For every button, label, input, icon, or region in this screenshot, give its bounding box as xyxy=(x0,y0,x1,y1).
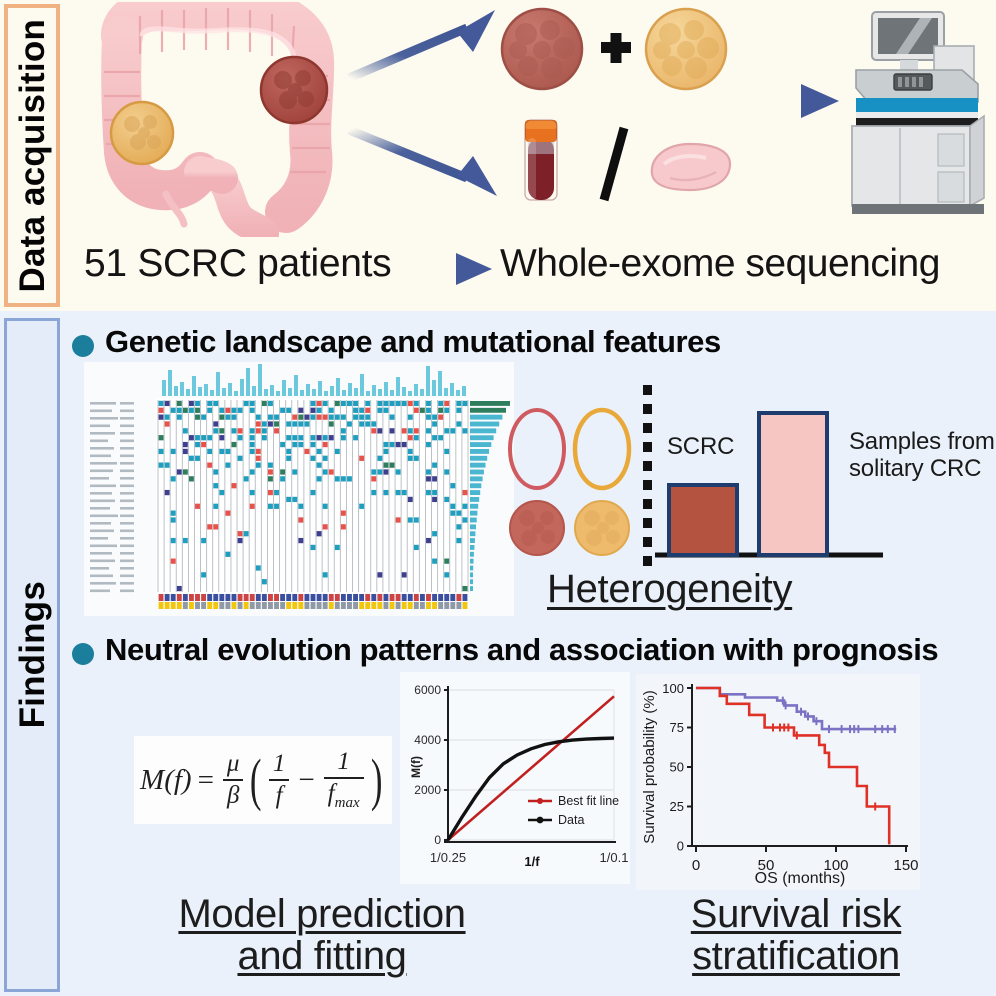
oncoplot-gene-frequency-bar xyxy=(470,483,481,488)
oncoplot-annotation-cell xyxy=(456,594,461,601)
oncoplot-cell xyxy=(347,421,352,426)
oncoplot-cell xyxy=(365,421,370,426)
oncoplot-cell xyxy=(390,401,395,406)
oncoplot-cell xyxy=(317,435,322,440)
oncoplot-cell xyxy=(426,538,431,543)
oncoplot-cell xyxy=(408,428,413,433)
oncoplot-cell xyxy=(341,401,346,406)
oncoplot-annotation-cell xyxy=(420,602,425,609)
ytick-2000: 2000 xyxy=(414,783,441,797)
bar-label-scrc: SCRC xyxy=(667,433,734,461)
oncoplot-cell xyxy=(201,538,206,543)
oncoplot-cell xyxy=(159,463,164,468)
oncoplot-cell xyxy=(377,572,382,577)
oncoplot-annotation-cell xyxy=(177,602,182,609)
finding-bullet-2-text: Neutral evolution patterns and associati… xyxy=(105,634,938,666)
oncoplot-cell xyxy=(414,408,419,413)
oncoplot-cell xyxy=(323,401,328,406)
plus-sign xyxy=(601,33,631,63)
oncoplot-cell xyxy=(426,469,431,474)
oncoplot-cell xyxy=(304,449,309,454)
oncoplot-gene-frequency-bar xyxy=(470,442,491,447)
oncoplot-annotation-cell xyxy=(201,602,206,609)
oncoplot-cell xyxy=(268,421,273,426)
oncoplot-cell xyxy=(262,421,267,426)
oncoplot-cell xyxy=(195,504,200,509)
ytick-4000: 4000 xyxy=(414,733,441,747)
oncoplot-gene-frequency-bar xyxy=(470,449,489,454)
oncoplot-cell xyxy=(311,408,316,413)
oncoplot-cell xyxy=(390,463,395,468)
oncoplot-cell xyxy=(201,442,206,447)
oncoplot-cell xyxy=(298,504,303,509)
oncoplot-annotation-cell xyxy=(213,602,218,609)
oncoplot-cell xyxy=(329,408,334,413)
surv-ytick-0: 0 xyxy=(677,839,684,854)
oncoplot-cell xyxy=(341,428,346,433)
oncoplot-cell xyxy=(250,408,255,413)
oncoplot-annotation-cell xyxy=(353,602,358,609)
bar-label-solitary: Samples from solitary CRC xyxy=(849,428,996,483)
oncoplot-cell xyxy=(195,456,200,461)
formula-term1: 1 f xyxy=(269,751,290,810)
oncoplot-cell xyxy=(189,401,194,406)
oncoplot-cell xyxy=(444,408,449,413)
oncoplot-annotation-cell xyxy=(292,602,297,609)
oncoplot-gene-frequency-bar xyxy=(470,545,474,550)
oncoplot-cell xyxy=(311,490,316,495)
oncoplot-cell xyxy=(183,449,188,454)
oncoplot-annotation-cell xyxy=(177,594,182,601)
oncoplot-annotation-cell xyxy=(463,594,468,601)
oncoplot-cell xyxy=(213,483,218,488)
oncoplot-annotation-cell xyxy=(390,602,395,609)
model-xlabel: 1/f xyxy=(524,854,540,869)
oncoplot-annotation-cell xyxy=(311,602,316,609)
oncoplot-cell xyxy=(353,401,358,406)
oncoplot-cell xyxy=(201,435,206,440)
oncoplot-cell xyxy=(402,442,407,447)
oncoplot-cell xyxy=(408,456,413,461)
oncoplot-annotation-cell xyxy=(347,594,352,601)
oncoplot-cell xyxy=(426,490,431,495)
oncoplot-cell xyxy=(438,435,443,440)
oncoplot-annotation-cell xyxy=(384,602,389,609)
oncoplot-cell xyxy=(256,456,261,461)
oncoplot-cell xyxy=(177,415,182,420)
term1-num: 1 xyxy=(269,751,290,777)
oncoplot-cell xyxy=(171,449,176,454)
oncoplot-annotation-cell xyxy=(402,602,407,609)
oncoplot-annotation-cell xyxy=(268,594,273,601)
oncoplot-cell xyxy=(232,415,237,420)
oncoplot-cell xyxy=(298,408,303,413)
oncoplot-cell xyxy=(189,476,194,481)
oncoplot-cell xyxy=(250,401,255,406)
oncoplot-cell xyxy=(225,552,230,557)
oncoplot-cell xyxy=(250,435,255,440)
oncoplot-annotation-cell xyxy=(359,594,364,601)
oncoplot-cell xyxy=(201,415,206,420)
oncoplot-annotation-cell xyxy=(171,594,176,601)
bullet-dot-icon xyxy=(72,643,94,665)
surv-ytick-75: 75 xyxy=(670,720,684,735)
oncoplot-cell xyxy=(317,401,322,406)
oncoplot-cell xyxy=(396,469,401,474)
oncoplot-cell xyxy=(177,408,182,413)
oncoplot-annotation-cell xyxy=(274,602,279,609)
oncoplot-cell xyxy=(438,401,443,406)
xtick-right: 1/0.1 xyxy=(600,850,629,865)
bar-solitary xyxy=(759,413,827,555)
oncoplot-annotation-cell xyxy=(189,594,194,601)
oncoplot-annotation-cell xyxy=(225,602,230,609)
term2-den-base: f xyxy=(328,780,335,807)
formula-coefficient: μ β xyxy=(223,751,244,810)
term2-den: fmax xyxy=(324,781,364,812)
tumor-pair-icons xyxy=(500,6,730,92)
arrow-to-sequencer xyxy=(735,78,845,124)
oncoplot-cell xyxy=(250,469,255,474)
oncoplot-cell xyxy=(268,504,273,509)
cohort-label: 51 SCRC patients xyxy=(84,242,391,286)
oncoplot-cell xyxy=(262,435,267,440)
oncoplot-annotation-cell xyxy=(396,602,401,609)
model-ylabel: M(f) xyxy=(409,756,423,778)
oncoplot-cell xyxy=(219,428,224,433)
oncoplot-cell xyxy=(189,456,194,461)
oncoplot-annotation-cell xyxy=(262,602,267,609)
oncoplot-annotation-cell xyxy=(377,594,382,601)
oncoplot-cell xyxy=(219,415,224,420)
oncoplot-cell xyxy=(323,456,328,461)
oncoplot-annotation-cell xyxy=(165,602,170,609)
oncoplot-cell xyxy=(347,476,352,481)
findings-rail-label: Findings xyxy=(15,581,50,728)
oncoplot-cell xyxy=(426,401,431,406)
oncoplot-cell xyxy=(177,469,182,474)
open-paren: ( xyxy=(250,757,262,803)
oncoplot-annotation-cell xyxy=(426,602,431,609)
oncoplot-cell xyxy=(177,401,182,406)
oncoplot-cell xyxy=(414,428,419,433)
oncoplot-cell xyxy=(359,415,364,420)
frac-bar xyxy=(223,779,244,781)
oncoplot-annotation-cell xyxy=(311,594,316,601)
close-paren: ) xyxy=(370,757,382,803)
oncoplot-cell xyxy=(292,421,297,426)
oncoplot-cell xyxy=(250,442,255,447)
oncoplot-annotation-cell xyxy=(450,602,455,609)
oncoplot-cell xyxy=(171,408,176,413)
oncoplot-cell xyxy=(244,476,249,481)
oncoplot-cell xyxy=(286,435,291,440)
oncoplot-annotation-cell xyxy=(420,594,425,601)
oncoplot-cell xyxy=(377,401,382,406)
oncoplot-cell xyxy=(402,401,407,406)
data-acquisition-rail-label: Data acquisition xyxy=(15,19,50,293)
survival-caption-line1: Survival risk xyxy=(691,893,901,935)
oncoplot-cell xyxy=(450,428,455,433)
surv-xtick-150: 150 xyxy=(893,857,918,874)
oncoplot-cell xyxy=(244,531,249,536)
oncoplot-annotation-cell xyxy=(402,594,407,601)
heterogeneity-sample-icons xyxy=(505,397,633,561)
oncoplot-cell xyxy=(396,401,401,406)
oncoplot-cell xyxy=(384,449,389,454)
oncoplot-cell xyxy=(159,415,164,420)
oncoplot-cell xyxy=(335,401,340,406)
oncoplot-annotation-cell xyxy=(298,602,303,609)
oncoplot-cell xyxy=(371,476,376,481)
oncoplot-cell xyxy=(165,415,170,420)
surv-ytick-25: 25 xyxy=(670,799,684,814)
oncoplot-annotation-cell xyxy=(238,594,243,601)
oncoplot-cell xyxy=(311,435,316,440)
oncoplot-cell xyxy=(329,421,334,426)
oncoplot-cell xyxy=(183,428,188,433)
oncoplot-annotation-cell xyxy=(183,602,188,609)
bar-scrc xyxy=(669,485,737,555)
oncoplot-cell xyxy=(232,428,237,433)
oncoplot-annotation-cell xyxy=(390,594,395,601)
oncoplot-cell xyxy=(408,415,413,420)
oncoplot-cell xyxy=(298,415,303,420)
oncoplot-cell xyxy=(195,442,200,447)
oncoplot-cell xyxy=(311,442,316,447)
oncoplot-cell xyxy=(189,408,194,413)
oncoplot-gene-frequency-bar xyxy=(470,476,483,481)
oncoplot-annotation-cell xyxy=(426,594,431,601)
oncoplot-cell xyxy=(165,401,170,406)
oncoplot-cell xyxy=(335,476,340,481)
oncoplot-cell xyxy=(219,449,224,454)
oncoplot-cell xyxy=(390,415,395,420)
oncoplot-cell xyxy=(268,476,273,481)
oncoplot-cell xyxy=(256,463,261,468)
oncoplot-annotation-cell xyxy=(280,594,285,601)
oncoplot-annotation-cell xyxy=(347,602,352,609)
oncoplot-annotation-cell xyxy=(365,602,370,609)
oncoplot-annotation-cell xyxy=(207,602,212,609)
oncoplot-cell xyxy=(420,408,425,413)
oncoplot-cell xyxy=(335,449,340,454)
oncoplot-cell xyxy=(298,517,303,522)
oncoplot-annotation-cell xyxy=(359,602,364,609)
oncoplot-cell xyxy=(353,435,358,440)
oncoplot-annotation-cell xyxy=(159,602,164,609)
oncoplot-cell xyxy=(365,408,370,413)
yellow-tumor-small-icon xyxy=(575,501,629,555)
oncoplot-annotation-cell xyxy=(225,594,230,601)
oncoplot-annotation-cell xyxy=(280,602,285,609)
colon-illustration xyxy=(80,2,370,237)
oncoplot-annotation-cell xyxy=(329,602,334,609)
oncoplot-cell xyxy=(256,428,261,433)
oncoplot-cell xyxy=(426,476,431,481)
oncoplot-gene-frequency-bar xyxy=(470,415,502,420)
dashed-divider-icon xyxy=(643,383,652,573)
oncoplot-cell xyxy=(396,517,401,522)
oncoplot-cell xyxy=(329,415,334,420)
oncoplot-cell xyxy=(250,428,255,433)
oncoplot-cell xyxy=(426,415,431,420)
oncoplot-cell xyxy=(232,408,237,413)
oncoplot-cell xyxy=(444,449,449,454)
oncoplot-cell xyxy=(238,428,243,433)
oncoplot-cell xyxy=(371,421,376,426)
oncoplot-annotation-cell xyxy=(432,594,437,601)
oncoplot-cell xyxy=(262,401,267,406)
oncoplot-cell xyxy=(390,442,395,447)
oncoplot-cell xyxy=(311,401,316,406)
oncoplot-cell xyxy=(274,421,279,426)
oncoplot-cell xyxy=(256,415,261,420)
oncoplot-annotation-cell xyxy=(244,594,249,601)
oncoplot-gene-frequency-bar xyxy=(470,490,480,495)
oncoplot-cell xyxy=(341,476,346,481)
oncoplot-annotation-cell xyxy=(201,594,206,601)
arrow-cohort-to-method xyxy=(404,248,496,290)
oncoplot-cell xyxy=(207,463,212,468)
oncoplot-cell xyxy=(317,449,322,454)
oncoplot-cell xyxy=(219,435,224,440)
oncoplot-cell xyxy=(396,490,401,495)
oncoplot-cell xyxy=(414,517,419,522)
oncoplot-cell xyxy=(432,476,437,481)
term2-den-sub: max xyxy=(335,795,360,811)
oncoplot-cell xyxy=(292,415,297,420)
oncoplot-annotation-cell xyxy=(335,594,340,601)
oncoplot-annotation-cell xyxy=(219,602,224,609)
normal-tissue-icon xyxy=(652,144,730,190)
red-tumor-small-icon xyxy=(510,501,564,555)
frac-bar xyxy=(269,779,290,781)
oncoplot-cell xyxy=(298,442,303,447)
oncoplot-cell xyxy=(408,517,413,522)
oncoplot-cell xyxy=(408,497,413,502)
oncoplot-cell xyxy=(414,401,419,406)
oncoplot-gene-frequency-bar xyxy=(470,463,486,468)
oncoplot-cell xyxy=(280,476,285,481)
oncoplot-cell xyxy=(256,421,261,426)
oncoplot-cell xyxy=(286,408,291,413)
oncoplot-cell xyxy=(286,421,291,426)
oncoplot-cell xyxy=(207,435,212,440)
oncoplot-cell xyxy=(463,586,468,591)
oncoplot-cell xyxy=(335,545,340,550)
legend-data: Data xyxy=(558,813,584,827)
oncoplot-annotation-cell xyxy=(232,594,237,601)
oncoplot-annotation-cell xyxy=(323,602,328,609)
oncoplot-cell xyxy=(414,545,419,550)
oncoplot-cell xyxy=(225,415,230,420)
oncoplot-cell xyxy=(171,538,176,543)
term1-den: f xyxy=(272,783,287,809)
oncoplot-cell xyxy=(225,511,230,516)
oncoplot-gene-frequency-bar xyxy=(470,456,487,461)
oncoplot-cell xyxy=(341,524,346,529)
oncoplot-cell xyxy=(408,401,413,406)
oncoplot-cell xyxy=(323,442,328,447)
oncoplot-cell xyxy=(456,401,461,406)
surv-xlabel: OS (months) xyxy=(755,870,846,887)
oncoplot-annotation-cell xyxy=(274,594,279,601)
oncoplot-annotation-cell xyxy=(384,594,389,601)
oncoplot-annotation-cell xyxy=(438,602,443,609)
oncoplot-annotation-cell xyxy=(408,602,413,609)
oncoplot-cell xyxy=(286,456,291,461)
oncoplot-cell xyxy=(463,517,468,522)
oncoplot-cell xyxy=(311,456,316,461)
oncoplot-annotation-cell xyxy=(377,602,382,609)
oncoplot-cell xyxy=(353,415,358,420)
oncoplot-cell xyxy=(323,572,328,577)
oncoplot-cell xyxy=(232,442,237,447)
oncoplot-cell xyxy=(371,469,376,474)
oncoplot-cell xyxy=(219,490,224,495)
sequencer-machine-icon xyxy=(838,8,990,220)
oncoplot-cell xyxy=(311,415,316,420)
oncoplot-cell xyxy=(432,435,437,440)
oncoplot-cell xyxy=(250,490,255,495)
oncoplot-gene-frequency-bar xyxy=(470,538,475,543)
oncoplot-annotation-cell xyxy=(365,594,370,601)
oncoplot-cell xyxy=(159,408,164,413)
formula-beta: β xyxy=(223,783,243,809)
oncoplot-annotation-cell xyxy=(159,594,164,601)
oncoplot-cell xyxy=(213,428,218,433)
oncoplot-cell xyxy=(268,490,273,495)
oncoplot-annotation-cell xyxy=(444,602,449,609)
finding-bullet-2: Neutral evolution patterns and associati… xyxy=(72,634,972,666)
oncoplot-cell xyxy=(244,401,249,406)
oncoplot-annotation-cell xyxy=(219,594,224,601)
oncoplot-cell xyxy=(323,469,328,474)
oncoplot-cell xyxy=(225,463,230,468)
oncoplot-mutation-landscape xyxy=(84,362,514,616)
oncoplot-cell xyxy=(280,408,285,413)
oncoplot-gene-frequency-bar xyxy=(470,586,473,591)
oncoplot-cell xyxy=(432,490,437,495)
oncoplot-cell xyxy=(323,435,328,440)
oncoplot-annotation-cell xyxy=(189,602,194,609)
oncoplot-annotation-cell xyxy=(213,594,218,601)
oncoplot-cell xyxy=(384,408,389,413)
model-fit-chart: 6000 4000 2000 0 M(f) 1/0.25 1/0.1 1/f B… xyxy=(400,672,630,884)
oncoplot-cell xyxy=(165,490,170,495)
oncoplot-cell xyxy=(207,401,212,406)
oncoplot-cell xyxy=(159,449,164,454)
oncoplot-cell xyxy=(426,428,431,433)
oncoplot-gene-frequency-bar xyxy=(470,518,477,523)
oncoplot-cell xyxy=(371,490,376,495)
oncoplot-annotation-cell xyxy=(262,594,267,601)
oncoplot-cell xyxy=(432,559,437,564)
oncoplot-cell xyxy=(219,408,224,413)
oncoplot-cell xyxy=(432,415,437,420)
model-caption: Model prediction and fitting xyxy=(122,893,522,978)
sample-pair-icons xyxy=(492,112,732,216)
oncoplot-cell xyxy=(171,476,176,481)
slash-divider xyxy=(604,128,624,200)
oncoplot-annotation-cell xyxy=(286,594,291,601)
method-label: Whole-exome sequencing xyxy=(500,242,940,286)
oncoplot-cell xyxy=(323,524,328,529)
oncoplot-cell xyxy=(317,463,322,468)
oncoplot-cell xyxy=(292,469,297,474)
oncoplot-cell xyxy=(207,524,212,529)
